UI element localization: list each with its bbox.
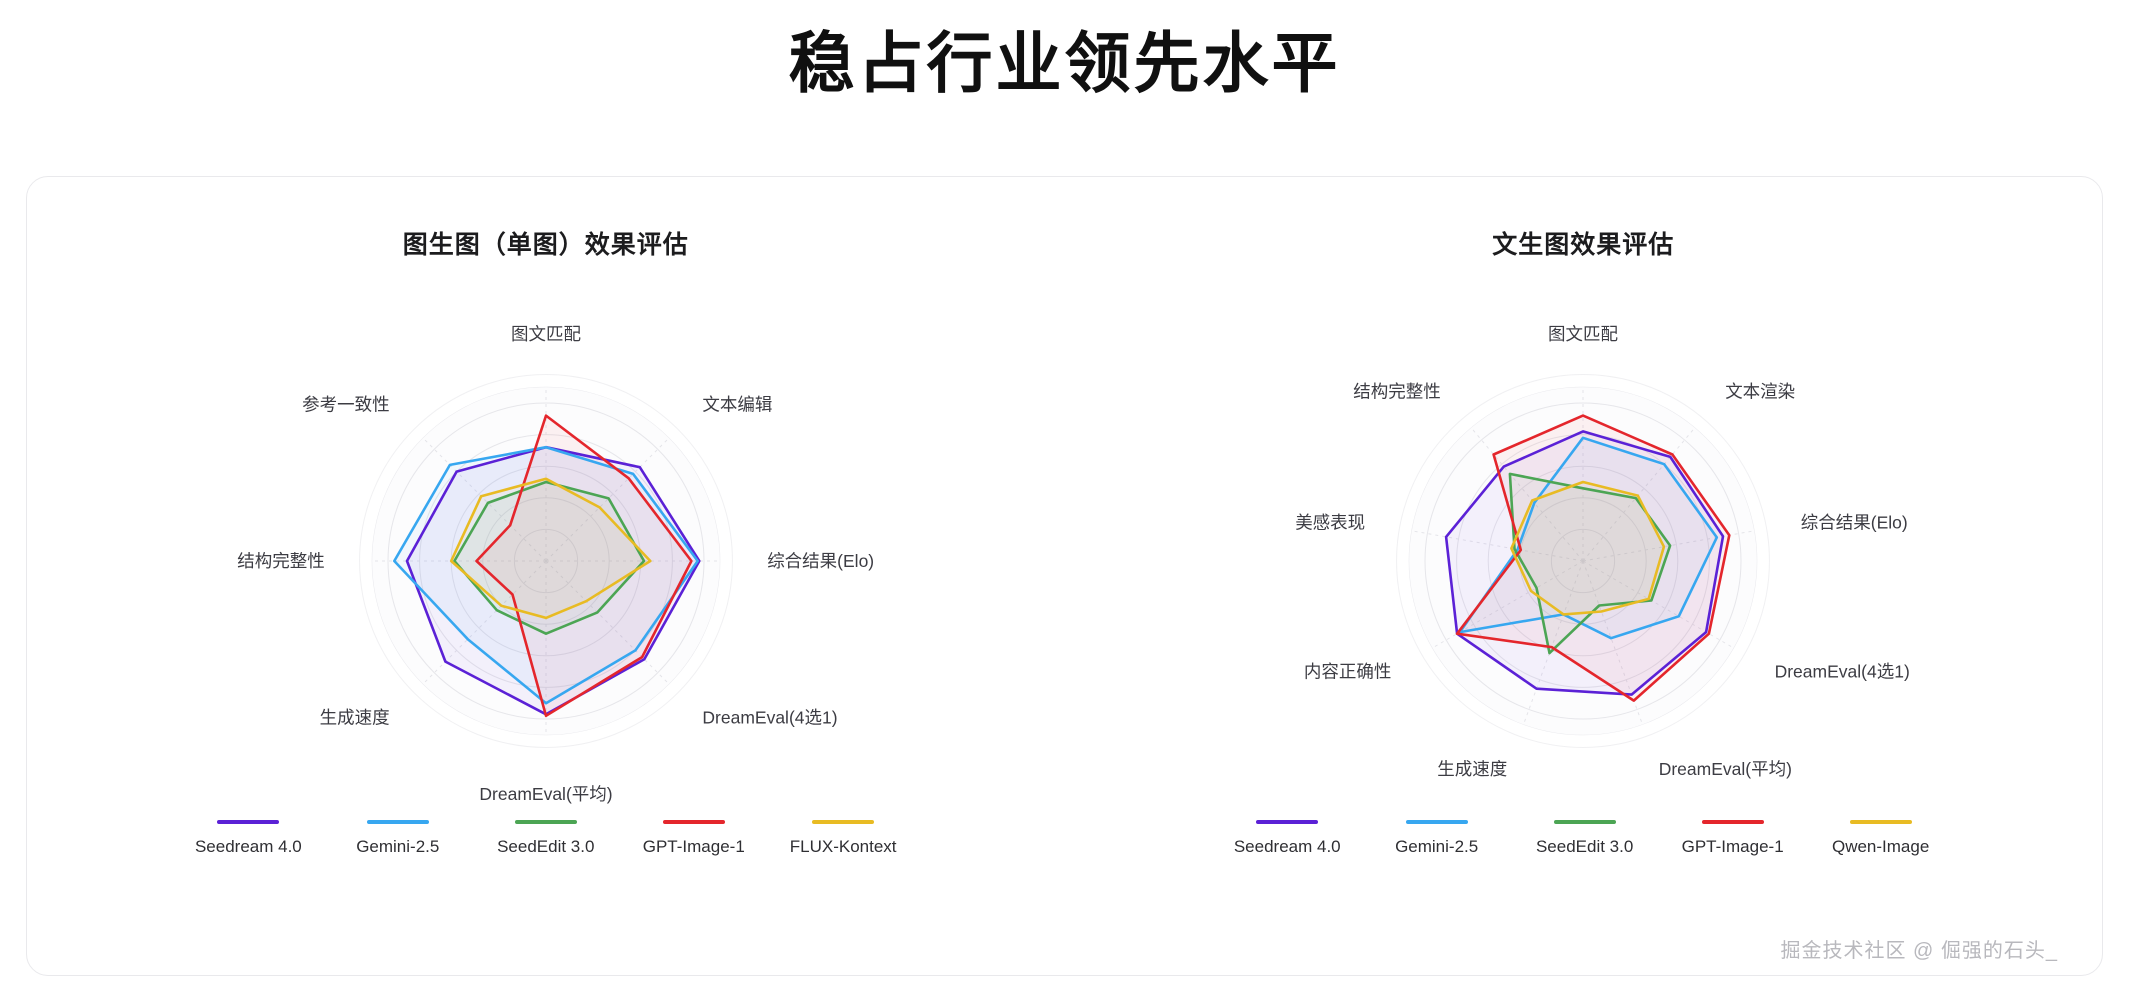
radar-chart-image-to-image: 图文匹配文本编辑综合结果(Elo)DreamEval(4选1)DreamEval… xyxy=(136,261,956,821)
charts-row: 图生图（单图）效果评估 图文匹配文本编辑综合结果(Elo)DreamEval(4… xyxy=(27,177,2102,975)
legend-color-swatch xyxy=(812,820,874,824)
legend-color-swatch xyxy=(1850,820,1912,824)
legend-item[interactable]: Qwen-Image xyxy=(1829,820,1933,857)
radar-axis-label: 结构完整性 xyxy=(1354,382,1442,402)
legend-color-swatch xyxy=(1554,820,1616,824)
radar-wrap-text-to-image: 图文匹配文本渲染综合结果(Elo)DreamEval(4选1)DreamEval… xyxy=(1065,261,2103,821)
legend-label: Seedream 4.0 xyxy=(195,837,302,857)
legend-color-swatch xyxy=(1406,820,1468,824)
radar-axis-label: 文本渲染 xyxy=(1725,382,1795,402)
radar-axis-label: 参考一致性 xyxy=(302,395,390,415)
radar-axis-label: 生成速度 xyxy=(319,707,389,727)
radar-axis-label: 内容正确性 xyxy=(1304,662,1392,682)
legend-label: SeedEdit 3.0 xyxy=(1536,837,1633,857)
legend-item[interactable]: GPT-Image-1 xyxy=(1681,820,1785,857)
radar-axis-label: 图文匹配 xyxy=(1548,324,1618,344)
radar-axis-label: DreamEval(平均) xyxy=(479,784,612,804)
radar-axis-label: 生成速度 xyxy=(1438,759,1508,779)
chart-panel-text-to-image: 文生图效果评估 图文匹配文本渲染综合结果(Elo)DreamEval(4选1)D… xyxy=(1065,177,2103,975)
chart-title-image-to-image: 图生图（单图）效果评估 xyxy=(27,177,1065,261)
legend-label: Gemini-2.5 xyxy=(356,837,439,857)
radar-axis-label: DreamEval(4选1) xyxy=(702,707,837,727)
legend-item[interactable]: SeedEdit 3.0 xyxy=(1533,820,1637,857)
legend-color-swatch xyxy=(1256,820,1318,824)
radar-chart-text-to-image: 图文匹配文本渲染综合结果(Elo)DreamEval(4选1)DreamEval… xyxy=(1173,261,1993,821)
legend-item[interactable]: FLUX-Kontext xyxy=(790,820,897,857)
chart-title-text-to-image: 文生图效果评估 xyxy=(1065,177,2103,261)
legend-label: SeedEdit 3.0 xyxy=(497,837,594,857)
legend-label: Seedream 4.0 xyxy=(1234,837,1341,857)
legend-text-to-image: Seedream 4.0Gemini-2.5SeedEdit 3.0GPT-Im… xyxy=(1065,820,2103,857)
legend-label: GPT-Image-1 xyxy=(643,837,745,857)
radar-axis-label: 美感表现 xyxy=(1295,513,1365,533)
radar-axis-label: 综合结果(Elo) xyxy=(1801,513,1908,533)
chart-panel-image-to-image: 图生图（单图）效果评估 图文匹配文本编辑综合结果(Elo)DreamEval(4… xyxy=(27,177,1065,975)
legend-item[interactable]: Seedream 4.0 xyxy=(195,820,302,857)
radar-axis-label: DreamEval(4选1) xyxy=(1775,662,1910,682)
legend-label: Qwen-Image xyxy=(1832,837,1929,857)
legend-color-swatch xyxy=(217,820,279,824)
legend-label: Gemini-2.5 xyxy=(1395,837,1478,857)
legend-item[interactable]: GPT-Image-1 xyxy=(642,820,746,857)
legend-item[interactable]: Seedream 4.0 xyxy=(1234,820,1341,857)
legend-item[interactable]: SeedEdit 3.0 xyxy=(494,820,598,857)
radar-wrap-image-to-image: 图文匹配文本编辑综合结果(Elo)DreamEval(4选1)DreamEval… xyxy=(27,261,1065,821)
legend-color-swatch xyxy=(367,820,429,824)
page-root: 稳占行业领先水平 图生图（单图）效果评估 图文匹配文本编辑综合结果(Elo)Dr… xyxy=(0,0,2129,1002)
radar-axis-label: 综合结果(Elo) xyxy=(767,551,874,571)
legend-label: GPT-Image-1 xyxy=(1682,837,1784,857)
legend-label: FLUX-Kontext xyxy=(790,837,897,857)
radar-axis-label: 文本编辑 xyxy=(702,395,772,415)
legend-color-swatch xyxy=(515,820,577,824)
legend-color-swatch xyxy=(1702,820,1764,824)
legend-image-to-image: Seedream 4.0Gemini-2.5SeedEdit 3.0GPT-Im… xyxy=(27,820,1065,857)
page-title: 稳占行业领先水平 xyxy=(0,0,2129,105)
legend-item[interactable]: Gemini-2.5 xyxy=(1385,820,1489,857)
radar-axis-label: 结构完整性 xyxy=(237,551,325,571)
watermark: 掘金技术社区 @ 倔强的石头_ xyxy=(1780,934,2058,963)
radar-axis-label: DreamEval(平均) xyxy=(1659,759,1792,779)
radar-axis-label: 图文匹配 xyxy=(511,324,581,344)
legend-color-swatch xyxy=(663,820,725,824)
legend-item[interactable]: Gemini-2.5 xyxy=(346,820,450,857)
charts-card: 图生图（单图）效果评估 图文匹配文本编辑综合结果(Elo)DreamEval(4… xyxy=(26,176,2103,976)
